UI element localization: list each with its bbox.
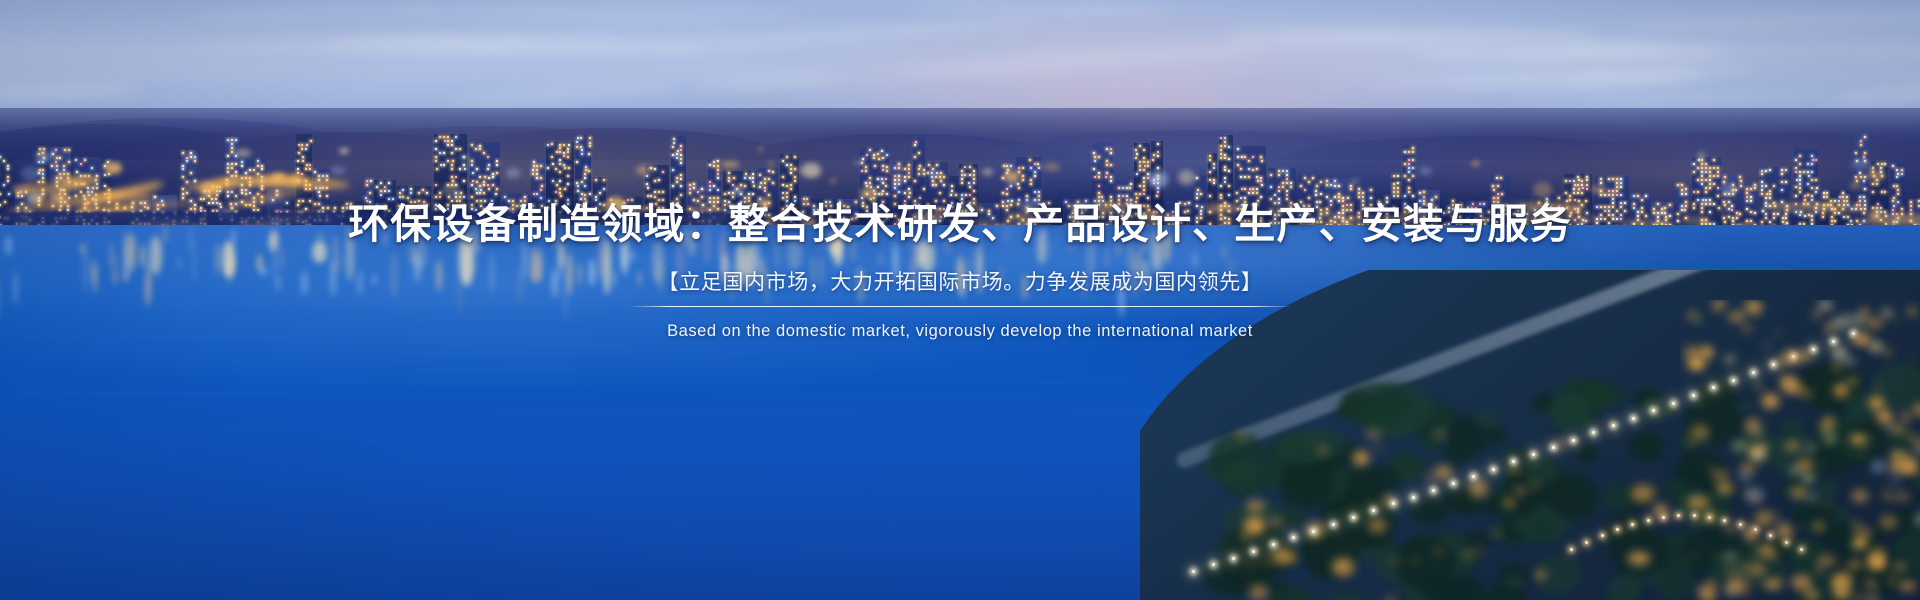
subtitle-divider-rule	[630, 306, 1290, 307]
banner-subtitle-english: Based on the domestic market, vigorously…	[610, 320, 1310, 342]
banner-subtitle-chinese: 【立足国内市场，大力开拓国际市场。力争发展成为国内领先】	[610, 268, 1310, 298]
banner-subtitle-group: 【立足国内市场，大力开拓国际市场。力争发展成为国内领先】 Based on th…	[610, 268, 1310, 342]
banner-text-overlay: 环保设备制造领域：整合技术研发、产品设计、生产、安装与服务 【立足国内市场，大力…	[0, 0, 1920, 600]
banner-headline: 环保设备制造领域：整合技术研发、产品设计、生产、安装与服务	[0, 200, 1920, 248]
hero-banner: 环保设备制造领域：整合技术研发、产品设计、生产、安装与服务 【立足国内市场，大力…	[0, 0, 1920, 600]
